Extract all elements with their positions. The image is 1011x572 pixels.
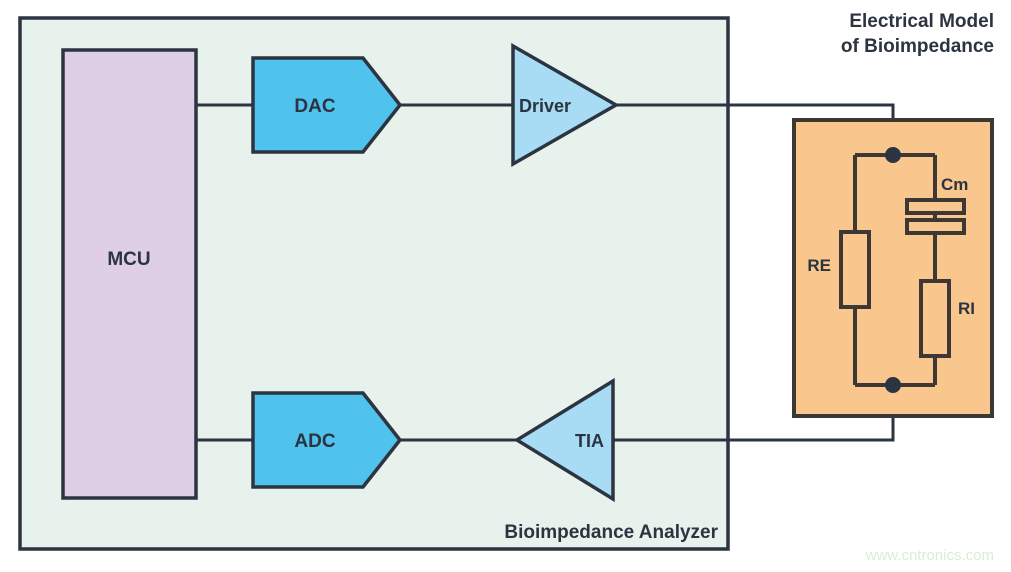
adc-label: ADC	[294, 431, 335, 452]
re-resistor-body	[841, 232, 869, 307]
dac-label: DAC	[294, 96, 335, 117]
cm-plate-top	[907, 200, 964, 213]
ri-resistor-body	[921, 281, 949, 356]
bottom-junction-node	[885, 377, 901, 393]
model-title-line-2: of Bioimpedance	[841, 36, 994, 57]
re-label: RE	[807, 256, 831, 275]
cm-label: Cm	[941, 175, 968, 194]
driver-label: Driver	[519, 96, 571, 116]
tia-label: TIA	[575, 431, 604, 451]
model-title-line-1: Electrical Model	[849, 11, 994, 32]
mcu-label: MCU	[107, 249, 150, 270]
mcu-body	[63, 50, 196, 498]
block-mcu[interactable]: MCU	[63, 50, 196, 498]
ri-label: RI	[958, 299, 975, 318]
diagram-canvas: MCU DAC Driver ADC TIA Bioimpedance Anal…	[0, 0, 1011, 572]
top-junction-node	[885, 147, 901, 163]
bioimpedance-block-diagram: MCU DAC Driver ADC TIA Bioimpedance Anal…	[0, 0, 1011, 572]
cm-plate-bottom	[907, 220, 964, 233]
watermark: www.cntronics.com	[865, 547, 994, 564]
analyzer-caption: Bioimpedance Analyzer	[504, 522, 718, 543]
bioimpedance-model-box[interactable]: RE Cm RI	[794, 120, 992, 416]
